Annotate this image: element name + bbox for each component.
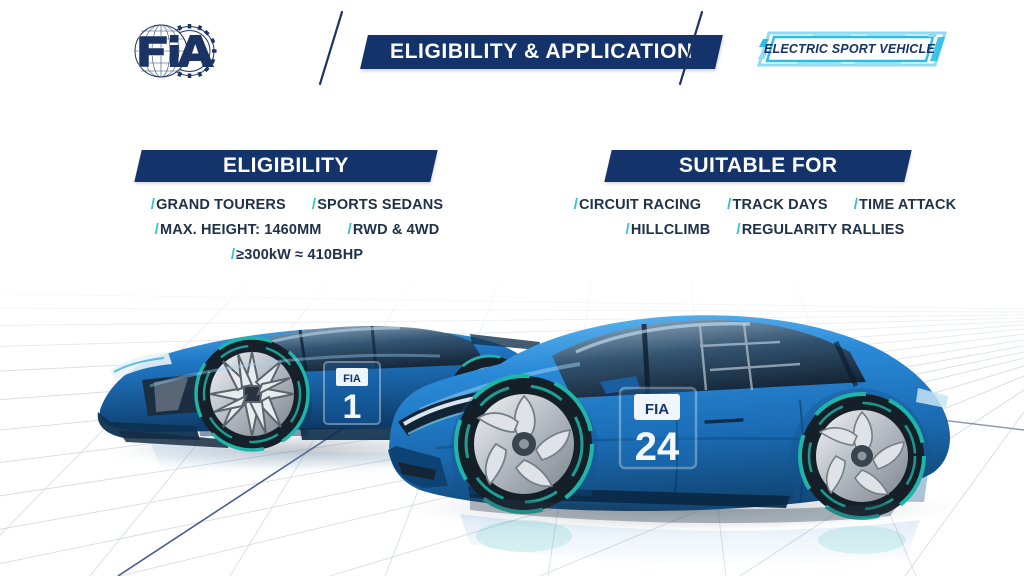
coupe-number-plate: FIA 1: [324, 362, 380, 426]
sedan-fia-badge-text: FIA: [645, 401, 669, 418]
sedan-door-handle-front: [706, 420, 742, 422]
divider-slash-left: [316, 8, 350, 88]
section-suitable-for: SUITABLE FOR / CIRCUIT RACING / TRACK DA…: [560, 150, 970, 246]
list-item-label: REGULARITY RALLIES: [742, 222, 905, 238]
slash-prefix-icon: /: [574, 196, 578, 213]
slash-prefix-icon: /: [348, 221, 352, 238]
sedan-front-wheel: [456, 376, 592, 512]
sedan-rear-wheel: [800, 394, 924, 518]
list-item: / REGULARITY RALLIES: [736, 221, 904, 238]
section-eligibility: ELIGIBILITY / GRAND TOURERS / SPORTS SED…: [112, 150, 482, 271]
header-bar: ELIGIBILITY & APPLICATION: [0, 0, 1024, 100]
eligibility-row-2: / MAX. HEIGHT: 1460MM / RWD & 4WD: [112, 221, 482, 238]
sedan-race-number: 24: [635, 425, 680, 469]
esv-badge-text: ELECTRIC SPORT VEHICLE: [764, 42, 935, 56]
fia-logo: [124, 20, 228, 82]
suitable-for-row-1: / CIRCUIT RACING / TRACK DAYS / TIME ATT…: [560, 196, 970, 213]
sedan-front-centre-cap: [519, 439, 529, 449]
sedan-rear-centre-cap: [858, 452, 867, 461]
list-item-label: MAX. HEIGHT: 1460MM: [160, 222, 322, 238]
section-heading-banner-suitable-for: SUITABLE FOR: [604, 150, 911, 182]
slash-prefix-icon: /: [155, 221, 159, 238]
section-heading-banner-eligibility: ELIGIBILITY: [134, 150, 437, 182]
list-item: / HILLCLIMB: [626, 221, 711, 238]
eligibility-item-list: / GRAND TOURERS / SPORTS SEDANS / MAX. H…: [112, 196, 482, 263]
slash-prefix-icon: /: [231, 246, 235, 263]
slash-prefix-icon: /: [727, 196, 731, 213]
list-item: / TIME ATTACK: [854, 196, 957, 213]
list-item: / RWD & 4WD: [348, 221, 440, 238]
slash-prefix-icon: /: [151, 196, 155, 213]
list-item-label: ≥300kW ≈ 410BHP: [236, 247, 363, 263]
eligibility-row-1: / GRAND TOURERS / SPORTS SEDANS: [112, 196, 482, 213]
list-item: / ≥300kW ≈ 410BHP: [231, 246, 363, 263]
section-heading-eligibility: ELIGIBILITY: [223, 154, 349, 178]
list-item-label: RWD & 4WD: [353, 222, 439, 238]
page-title: ELIGIBILITY & APPLICATION: [390, 40, 693, 64]
sedan-rear-wheel-reflection: [818, 526, 906, 554]
divider-slash-right: [676, 8, 710, 88]
esv-badge-text-wrap: ELECTRIC SPORT VEHICLE: [771, 38, 928, 60]
list-item-label: TIME ATTACK: [859, 197, 956, 213]
electric-sport-vehicle-badge: ELECTRIC SPORT VEHICLE: [755, 31, 949, 67]
list-item-label: SPORTS SEDANS: [317, 197, 443, 213]
slash-prefix-icon: /: [626, 221, 630, 238]
list-item: / CIRCUIT RACING: [574, 196, 701, 213]
list-item: / GRAND TOURERS: [151, 196, 286, 213]
list-item-label: CIRCUIT RACING: [579, 197, 701, 213]
eligibility-row-3: / ≥300kW ≈ 410BHP: [112, 246, 482, 263]
suitable-for-row-2: / HILLCLIMB / REGULARITY RALLIES: [560, 221, 970, 238]
coupe-fia-badge-text: FIA: [343, 373, 361, 385]
coupe-race-number: 1: [343, 388, 362, 426]
coupe-front-wheel: [196, 338, 308, 450]
list-item: / MAX. HEIGHT: 1460MM: [155, 221, 322, 238]
section-heading-suitable-for: SUITABLE FOR: [679, 154, 837, 178]
cars-illustration: FIA 1: [0, 290, 1024, 576]
page-title-banner: ELIGIBILITY & APPLICATION: [360, 35, 723, 69]
sedan-number-plate: FIA 24: [620, 388, 696, 469]
slash-prefix-icon: /: [736, 221, 740, 238]
list-item-label: TRACK DAYS: [732, 197, 827, 213]
slash-prefix-icon: /: [312, 196, 316, 213]
slash-prefix-icon: /: [854, 196, 858, 213]
sedan-front-wheel-reflection: [476, 520, 572, 552]
list-item-label: HILLCLIMB: [631, 222, 710, 238]
list-item: / SPORTS SEDANS: [312, 196, 443, 213]
list-item-label: GRAND TOURERS: [156, 197, 286, 213]
suitable-for-item-list: / CIRCUIT RACING / TRACK DAYS / TIME ATT…: [560, 196, 970, 238]
infographic-slide: ELIGIBILITY & APPLICATION: [0, 0, 1024, 576]
list-item: / TRACK DAYS: [727, 196, 828, 213]
